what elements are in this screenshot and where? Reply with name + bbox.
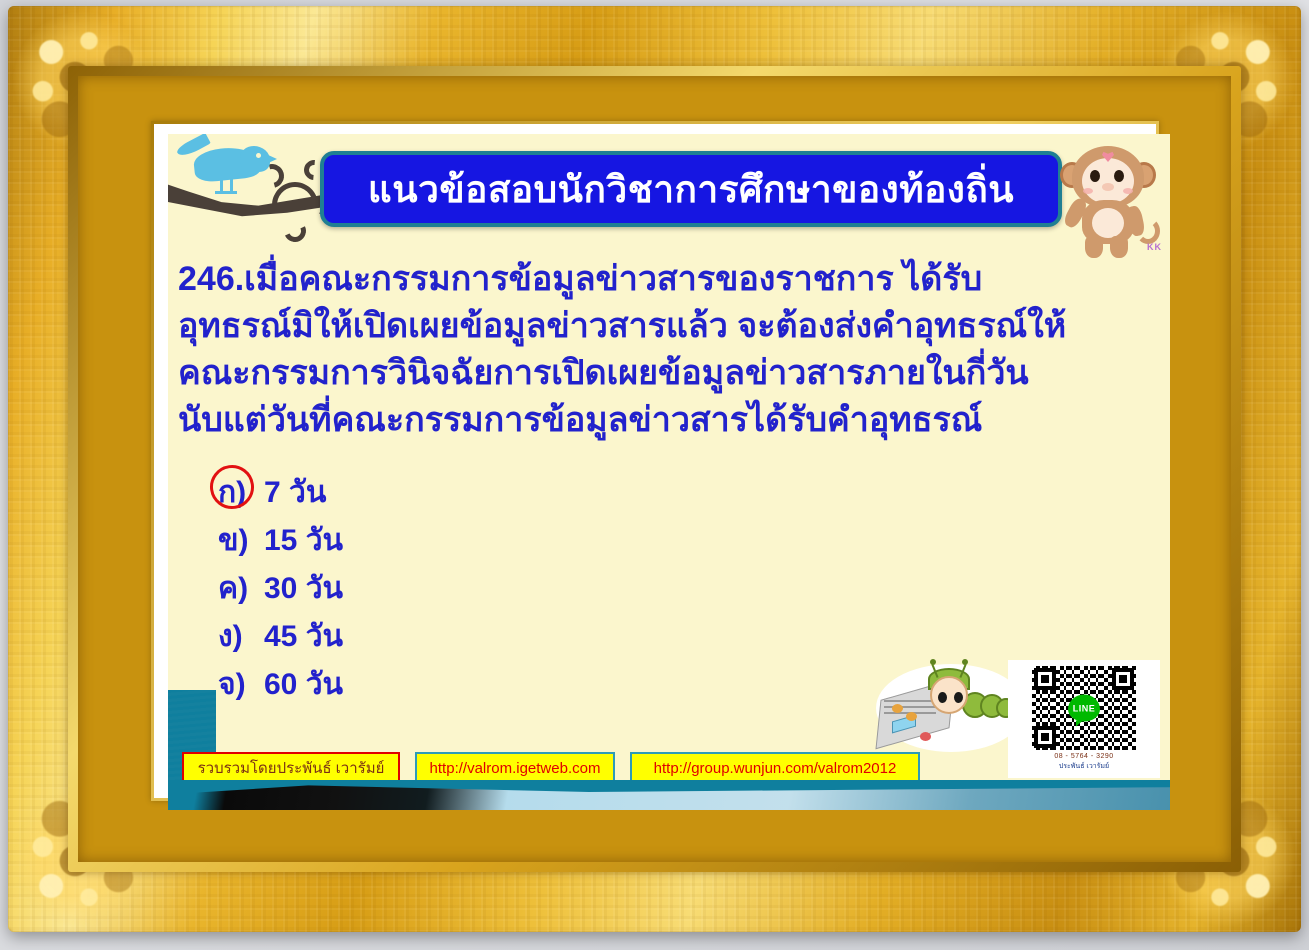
monkey-tail [1136, 218, 1160, 244]
option-key: ก) [218, 469, 264, 516]
qr-finder-top-left [1034, 668, 1056, 690]
caterpillar-antenna-tip [962, 659, 968, 665]
bird-eye [256, 153, 261, 158]
quiz-slide: แนวข้อสอบนักวิชาการศึกษาของท้องถิ่น [168, 134, 1170, 810]
book-dot [906, 712, 917, 721]
monkey-eye-right [1114, 170, 1124, 182]
line-qr-card[interactable]: LINE 08 - 5764 - 3290 ประพันธ์ เวารัมย์ [1008, 660, 1160, 778]
gold-picture-frame: แนวข้อสอบนักวิชาการศึกษาของท้องถิ่น [8, 6, 1301, 932]
book-dot [892, 704, 903, 713]
option-key: จ) [218, 661, 264, 708]
monkey-mascot-icon: KK [1052, 136, 1164, 258]
option-value: 45 วัน [264, 613, 343, 660]
monkey-cheek-right [1123, 188, 1133, 194]
qr-finder-top-right [1112, 668, 1134, 690]
monkey-cheek-left [1083, 188, 1093, 194]
monkey-leg-right [1110, 236, 1128, 258]
answer-option-a[interactable]: ก) 7 วัน [218, 468, 343, 516]
bottom-decorative-band [168, 780, 1170, 810]
monkey-belly [1092, 208, 1124, 238]
caterpillar-reading-book-icon [876, 664, 1026, 752]
answer-option-c[interactable]: ค) 30 วัน [218, 564, 343, 612]
monkey-face [1082, 158, 1134, 204]
bird-foot [225, 191, 237, 194]
line-logo-icon: LINE [1068, 695, 1100, 722]
option-key: ข) [218, 517, 264, 564]
slide-title-banner: แนวข้อสอบนักวิชาการศึกษาของท้องถิ่น [320, 151, 1062, 227]
mascot-signature: KK [1147, 242, 1162, 252]
monkey-nose [1102, 183, 1114, 191]
monkey-eye-left [1090, 170, 1100, 182]
option-value: 60 วัน [264, 661, 343, 708]
answer-option-b[interactable]: ข) 15 วัน [218, 516, 343, 564]
monkey-leg-left [1085, 236, 1103, 258]
answer-option-d[interactable]: ง) 45 วัน [218, 612, 343, 660]
book-text-line [884, 700, 936, 702]
answer-option-e[interactable]: จ) 60 วัน [218, 660, 343, 708]
qr-code-image: LINE [1032, 666, 1136, 750]
bird-leg [220, 178, 223, 192]
book-dot [920, 732, 931, 741]
question-line: อุทธรณ์มิให้เปิดเผยข้อมูลข่าวสารแล้ว จะต… [178, 303, 1158, 350]
question-line: นับแต่วันที่คณะกรรมการข้อมูลข่าวสารได้รั… [178, 397, 1158, 444]
bird-leg [230, 178, 233, 192]
option-value: 7 วัน [264, 469, 326, 516]
caterpillar-eye-right [954, 692, 963, 703]
caterpillar-antenna-tip [930, 659, 936, 665]
qr-phone-number: 08 - 5764 - 3290 [1054, 753, 1113, 760]
answer-options-list: ก) 7 วัน ข) 15 วัน ค) 30 วัน ง) 45 วัน [218, 468, 343, 708]
wall-background: แนวข้อสอบนักวิชาการศึกษาของท้องถิ่น [0, 0, 1309, 950]
question-text: 246.เมื่อคณะกรรมการข้อมูลข่าวสารของราชกา… [178, 256, 1158, 444]
option-key: ง) [218, 613, 264, 660]
qr-owner-name: ประพันธ์ เวารัมย์ [1059, 761, 1109, 772]
question-line: 246.เมื่อคณะกรรมการข้อมูลข่าวสารของราชกา… [178, 256, 1158, 303]
question-line: คณะกรรมการวินิจฉัยการเปิดเผยข้อมูลข่าวสา… [178, 350, 1158, 397]
page-title: แนวข้อสอบนักวิชาการศึกษาของท้องถิ่น [368, 171, 1014, 208]
option-key: ค) [218, 565, 264, 612]
option-value: 30 วัน [264, 565, 343, 612]
caterpillar-eye-left [938, 692, 947, 703]
qr-finder-bottom-left [1034, 726, 1056, 748]
option-value: 15 วัน [264, 517, 343, 564]
bird-beak [266, 154, 277, 164]
